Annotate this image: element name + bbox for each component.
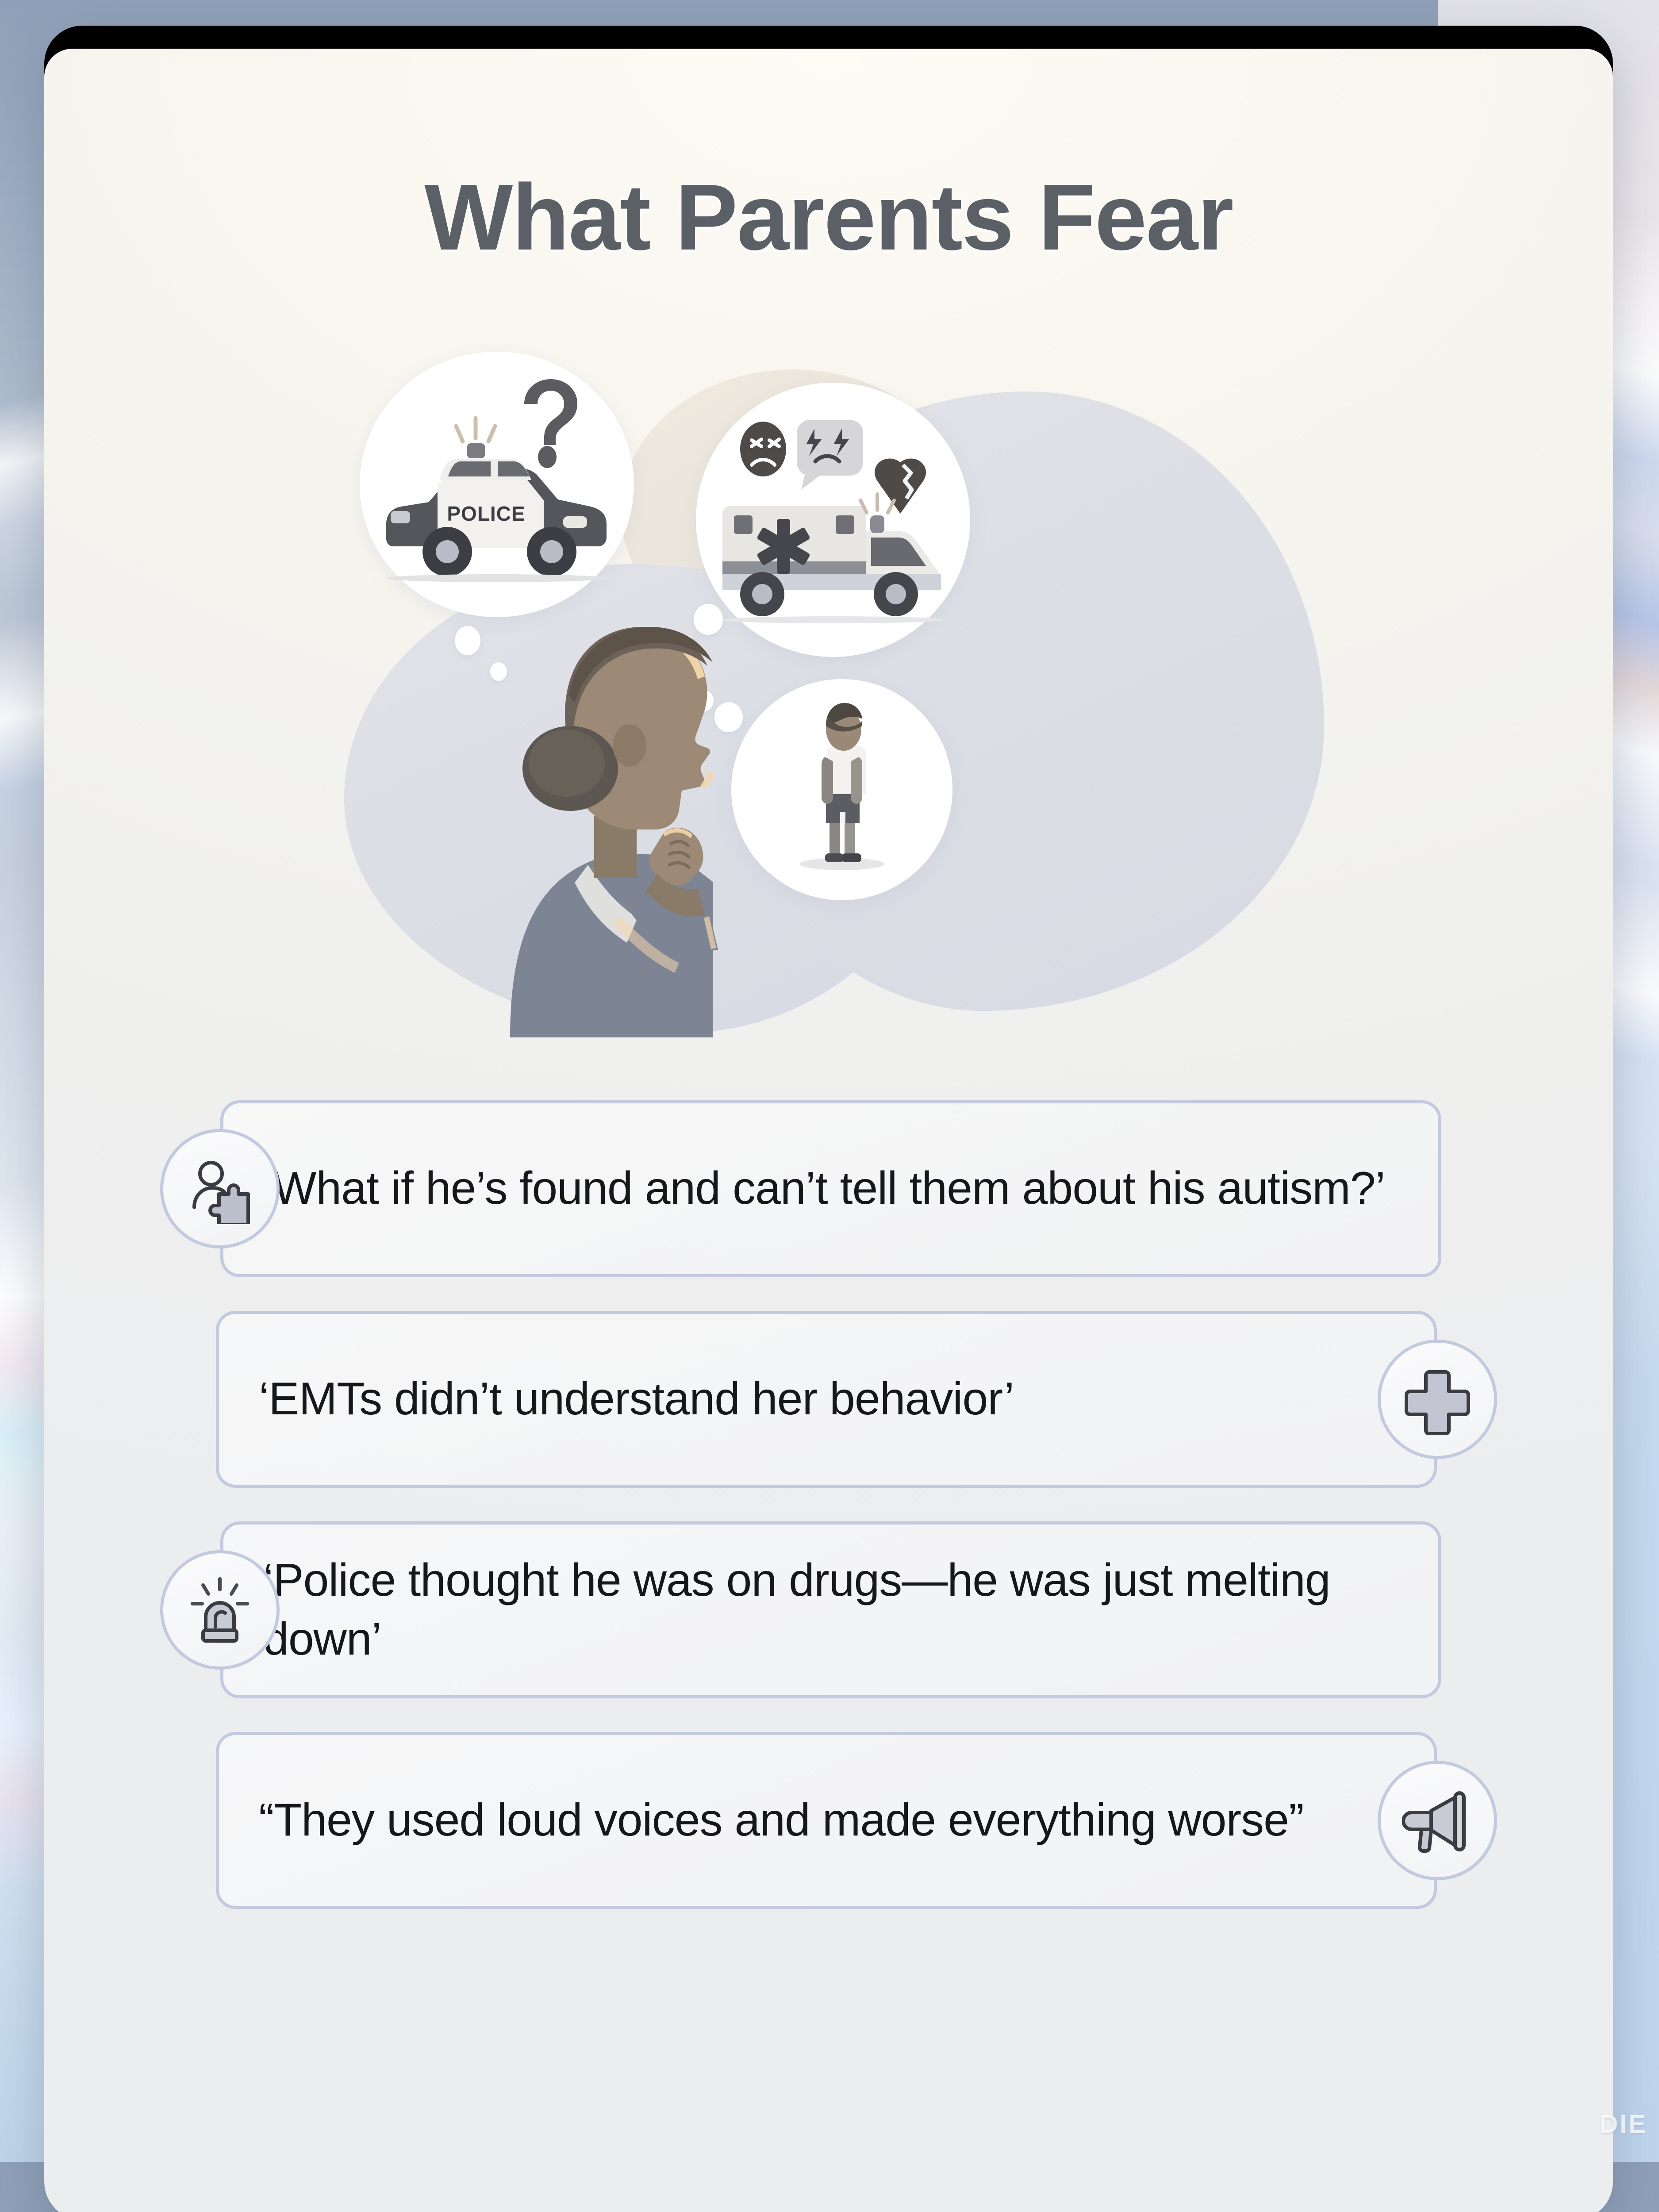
child-alone-bubble xyxy=(731,679,952,900)
page-title: What Parents Fear xyxy=(44,170,1613,264)
quote-list: ‘What if he’s found and can’t tell them … xyxy=(154,1096,1503,1913)
person-puzzle-icon[interactable] xyxy=(160,1129,280,1248)
quote-row: ‘What if he’s found and can’t tell them … xyxy=(154,1096,1503,1282)
standing-child-icon xyxy=(731,679,952,900)
quote-card[interactable]: ‘Police thought he was on drugs—he was j… xyxy=(220,1521,1441,1698)
megaphone-icon[interactable] xyxy=(1378,1761,1497,1880)
thought-dot xyxy=(455,626,480,655)
hero-illustration: POLICE xyxy=(320,316,1337,1042)
device-frame: What Parents Fear xyxy=(44,26,1613,2212)
quote-text: ‘What if he’s found and can’t tell them … xyxy=(263,1159,1385,1218)
quote-text: “They used loud voices and made everythi… xyxy=(259,1791,1304,1850)
quote-row: “They used loud voices and made everythi… xyxy=(154,1728,1503,1913)
quote-text: ‘EMTs didn’t understand her behavior’ xyxy=(259,1370,1014,1429)
medical-cross-icon[interactable] xyxy=(1378,1340,1497,1459)
quote-text: ‘Police thought he was on drugs—he was j… xyxy=(263,1551,1398,1669)
quote-card[interactable]: “They used loud voices and made everythi… xyxy=(216,1732,1437,1909)
quote-card[interactable]: ‘EMTs didn’t understand her behavior’ xyxy=(216,1311,1437,1488)
quote-row: ‘EMTs didn’t understand her behavior’ xyxy=(154,1306,1503,1492)
screen-surface: What Parents Fear xyxy=(44,49,1613,2212)
siren-light-icon[interactable] xyxy=(160,1550,280,1670)
watermark-text: DIE xyxy=(1599,2109,1647,2139)
svg-text:POLICE: POLICE xyxy=(447,502,525,525)
worried-parent-figure xyxy=(484,568,758,1037)
quote-row: ‘Police thought he was on drugs—he was j… xyxy=(154,1517,1503,1703)
quote-card[interactable]: ‘What if he’s found and can’t tell them … xyxy=(220,1100,1441,1277)
